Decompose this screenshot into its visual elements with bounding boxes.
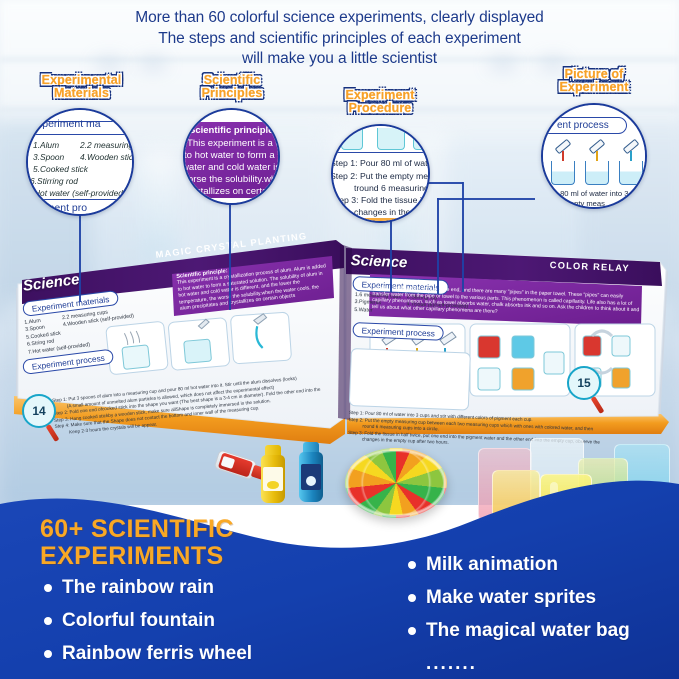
right-page-header-title: COLOR RELAY [550,260,630,273]
bubble-materials-title: Experiment ma [30,118,101,130]
experiment-name: Make water sprites [426,587,596,609]
bullet-icon [44,584,52,592]
list-item: The rainbow rain [44,577,252,599]
procedure-step-2: Step 2: Put the empty mea [331,170,430,182]
procedure-beaker-art-3 [413,128,430,150]
list-ellipsis: ....... [426,653,630,675]
bullet-icon [408,561,416,569]
list-item: Colorful fountain [44,610,252,632]
callout-label-line-2: Experiment [528,81,660,94]
left-steps-group: Step 1: Put 3 spoons of alum into a meas… [52,373,334,438]
bubble-materials-footer: eriment pro [34,202,87,214]
bubble-material-1: 1.Alum [33,140,59,152]
connector-line-picture-h [437,198,535,200]
experiment-name: The magical water bag [426,620,630,642]
experiment-name: Rainbow ferris wheel [62,643,252,665]
connector-line-principles [229,196,231,310]
left-page-number: 14 [32,404,45,418]
bubble-material-3: 3.Spoon [33,152,64,164]
bullet-icon [408,627,416,635]
drip-yellow [596,151,598,161]
callout-label-line-2: Procedure [320,102,440,115]
right-extra-illus [349,348,471,411]
bubble-material-5: 5.Cooked stick [33,164,88,176]
principle-line-5: crystallizes on certain o [183,186,280,198]
left-principle-text-group: Scientific principle: This experiment is… [176,257,331,313]
experiment-list-left: The rainbow rain Colorful fountain Rainb… [44,577,252,676]
bullet-icon [408,594,416,602]
procedure-step-3b: changes in the e [354,206,418,218]
callout-label-experiment-procedure: Experiment Procedure [320,89,440,115]
page-headline: More than 60 colorful science experiment… [0,8,679,70]
bullet-icon [44,617,52,625]
procedure-step-3: Step 3: Fold the tissue in h [331,194,430,206]
drip-red [562,151,564,161]
left-process-pill-label: Experiment process [31,352,105,371]
beaker-illustration-red [551,161,575,185]
right-magnifier-handle [591,396,605,414]
callout-label-picture-of-experiment: Picture of Experiment [528,68,660,94]
procedure-beaker-art [341,128,363,150]
principle-line-4: worse the solubility.whe [183,174,280,186]
connector-line-picture-v [437,198,439,294]
experiment-name: Colorful fountain [62,610,215,632]
principle-title: Scientific principle: [189,125,277,136]
bubble-content-principles: Scientific principle: This experiment is… [185,110,278,203]
left-page-number-magnifier: 14 [22,394,56,428]
principle-line-3: water and cold water is [183,162,280,174]
bullet-icon [44,650,52,658]
bottom-panel-title: 60+ SCIENTIFIC EXPERIMENTS [40,516,234,570]
callout-label-scientific-principles: Scientific Principles [178,74,286,100]
callout-label-line-2: Materials [14,87,149,100]
bubble-material-7: 7.Hot water (self-provided) [27,188,126,200]
magnifier-bubble-experimental-materials: Experiment ma 1.Alum 2.2 measuring 3.Spo… [26,108,134,216]
experiment-name: Milk animation [426,554,558,576]
left-page-logo: Science [22,271,80,295]
procedure-step-2b: tround 6 measuring [354,182,429,194]
principle-line-1: This experiment is a cry [187,138,280,150]
right-process-pill-label: Experiment process [361,325,435,338]
right-process-pill: Experiment process [352,322,444,341]
experiment-name: The rainbow rain [62,577,214,599]
headline-line-1: More than 60 colorful science experiment… [0,8,679,29]
principle-line-2: to hot water to form a sa [184,150,280,162]
bubble-material-4: 4.Wooden stick [80,152,134,164]
picture-process-pill-label: ent process [557,120,609,131]
beaker-illustration-yellow [585,161,609,185]
picture-caption-2: he empty meas [553,199,605,208]
list-item: The magical water bag [408,620,630,642]
bubble-material-2: 2.2 measuring [80,140,133,152]
left-page-header-title: MAGIC CRYSTAL PLANTING [155,231,308,260]
product-marketing-image: More than 60 colorful science experiment… [0,0,679,679]
right-page-number-magnifier: 15 [567,366,601,400]
magnifier-bubble-scientific-principles: Scientific principle: This experiment is… [183,108,280,205]
callout-label-experimental-materials: Experimental Materials [14,74,149,100]
bubble-material-6: 6.Stirring rod [30,176,78,188]
left-page-content: MAGIC CRYSTAL PLANTING Science Experimen… [0,228,345,478]
right-page-logo: Science [350,252,407,271]
list-item: Milk animation [408,554,630,576]
bubble-content-procedure: Step 1: Pour 80 ml of wate Step 2: Put t… [333,126,428,221]
right-page-number: 15 [577,376,590,390]
magnifier-bubble-experiment-procedure: Step 1: Pour 80 ml of wate Step 2: Put t… [331,124,430,223]
list-item: Rainbow ferris wheel [44,643,252,665]
principle-purple-panel: Scientific principle: This experiment is… [183,122,280,198]
procedure-step-1: Step 1: Pour 80 ml of wate [331,157,430,169]
callout-label-line-2: Principles [178,87,286,100]
headline-line-2: The steps and scientific principles of e… [0,29,679,50]
magnifier-bubble-picture-of-experiment: ent process our 80 ml of water into 3 he… [541,103,647,209]
bubble-content-materials: Experiment ma 1.Alum 2.2 measuring 3.Spo… [28,110,132,214]
procedure-beaker-art-2 [377,128,405,150]
picture-caption-1: our 80 ml of water into 3 [547,189,628,198]
list-item: Make water sprites [408,587,630,609]
bubble-content-picture: ent process our 80 ml of water into 3 he… [543,105,645,207]
experiment-list-right: Milk animation Make water sprites The ma… [408,554,630,675]
drip-blue [630,151,632,161]
beaker-illustration-blue [619,161,643,185]
